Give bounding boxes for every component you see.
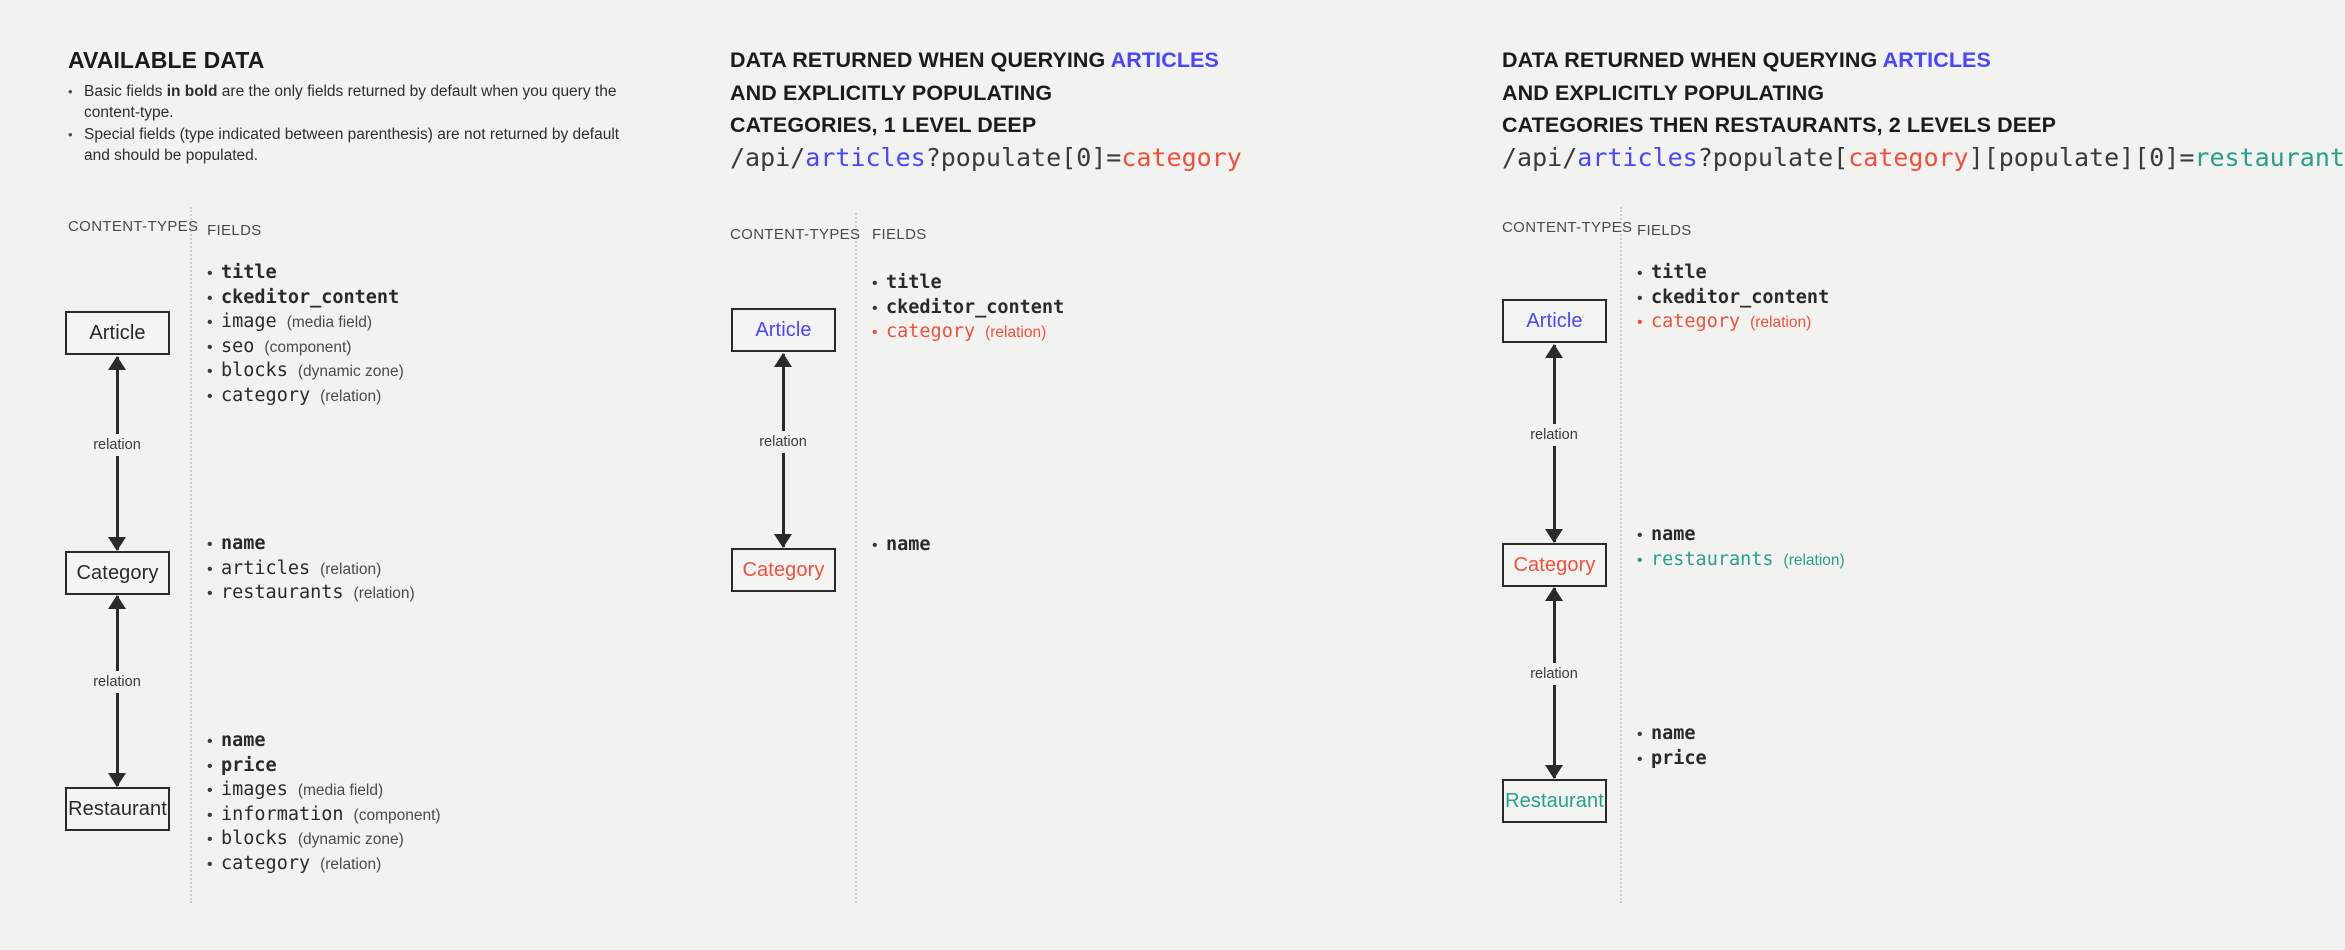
- api-url-2-levels: /api/articles?populate[category][populat…: [1502, 143, 2345, 173]
- column-3-heading-accent: ARTICLES: [1883, 48, 1991, 72]
- entity-box-category[interactable]: Category: [731, 548, 836, 592]
- intro-line-1: Special fields (type indicated between p…: [84, 126, 619, 143]
- field-name: restaurants: [221, 582, 344, 603]
- field-type: (relation): [1750, 314, 1811, 332]
- field-row: •restaurants(relation): [1637, 549, 1845, 570]
- bullet-dot-icon: •: [872, 538, 886, 554]
- bullet-dot-icon: •: [207, 340, 221, 356]
- url-token-restaurants: restaurants: [2194, 143, 2345, 172]
- column-2-heading-accent: ARTICLES: [1111, 48, 1219, 72]
- relation-connector-category-restaurant: relation: [102, 596, 132, 786]
- bullet-dot-icon: •: [207, 832, 221, 848]
- column-1-heading-text: AVAILABLE DATA: [68, 47, 264, 73]
- col3-section-divider: [1620, 207, 1622, 903]
- intro-line-2: and should be populated.: [84, 147, 258, 164]
- relation-label: relation: [754, 431, 812, 453]
- field-name: articles: [221, 558, 310, 579]
- field-row: •name: [207, 533, 415, 554]
- field-row: •images(media field): [207, 779, 441, 800]
- entity-box-article[interactable]: Article: [731, 308, 836, 352]
- field-name: category: [1651, 311, 1740, 332]
- field-name: price: [221, 755, 277, 776]
- field-type: (media field): [287, 314, 372, 332]
- entity-label: Article: [755, 319, 811, 342]
- arrow-up-icon: [1545, 587, 1563, 601]
- intro-bullet-list: • Basic fields in bold are the only fiel…: [68, 82, 668, 168]
- field-name: title: [886, 272, 942, 293]
- bullet-dot-icon: •: [207, 291, 221, 307]
- entity-label: Category: [77, 562, 159, 585]
- column-1-heading: AVAILABLE DATA: [68, 44, 264, 77]
- column-2-heading-line-3: CATEGORIES, 1 LEVEL DEEP: [730, 113, 1036, 137]
- field-group-category: •name •restaurants(relation): [1637, 524, 1845, 573]
- arrow-up-icon: [774, 353, 792, 367]
- field-row: •blocks(dynamic zone): [207, 360, 404, 381]
- bullet-dot-icon: •: [207, 759, 221, 775]
- col1-section-divider: [190, 207, 192, 903]
- field-row: •ckeditor_content: [207, 287, 404, 308]
- field-row: •name: [1637, 524, 1845, 545]
- arrow-down-icon: [1545, 529, 1563, 543]
- bullet-dot-icon: •: [1637, 266, 1651, 282]
- bullet-dot-icon: •: [1637, 553, 1651, 569]
- bullet-dot-icon: •: [207, 364, 221, 380]
- relation-connector-article-category: relation: [1539, 345, 1569, 542]
- relation-label: relation: [88, 671, 146, 693]
- field-group-article: •title •ckeditor_content •category(relat…: [872, 272, 1064, 346]
- relation-connector-article-category: relation: [768, 354, 798, 547]
- field-name: name: [221, 730, 266, 751]
- field-type: (component): [264, 339, 351, 357]
- field-row: •name: [872, 534, 931, 555]
- column-3-heading-line-1-pre: DATA RETURNED WHEN QUERYING: [1502, 48, 1883, 72]
- field-group-category: •name •articles(relation) •restaurants(r…: [207, 533, 415, 607]
- bullet-dot-icon: •: [207, 808, 221, 824]
- field-group-restaurant: •name •price •images(media field) •infor…: [207, 730, 441, 877]
- url-token-articles: articles: [1577, 143, 1697, 172]
- bullet-dot-icon: •: [207, 537, 221, 553]
- field-group-article: •title •ckeditor_content •image(media fi…: [207, 262, 404, 409]
- col2-label-content-types: CONTENT-TYPES: [730, 226, 860, 243]
- field-row: •title: [872, 272, 1064, 293]
- column-populate-2-levels: DATA RETURNED WHEN QUERYING ARTICLES AND…: [1480, 0, 2345, 950]
- bullet-dot-icon: •: [207, 389, 221, 405]
- column-2-heading-line-2: AND EXPLICITLY POPULATING: [730, 81, 1052, 105]
- bullet-dot-icon: •: [872, 325, 886, 341]
- entity-box-article[interactable]: Article: [1502, 299, 1607, 343]
- url-token: /api/: [1502, 143, 1577, 172]
- entity-label: Article: [89, 322, 145, 345]
- api-url-1-level: /api/articles?populate[0]=category: [730, 143, 1242, 173]
- field-row: •name: [1637, 723, 1707, 744]
- relation-connector-category-restaurant: relation: [1539, 588, 1569, 778]
- field-row: •title: [207, 262, 404, 283]
- column-2-heading: DATA RETURNED WHEN QUERYING ARTICLES AND…: [730, 44, 1219, 142]
- field-row: •blocks(dynamic zone): [207, 828, 441, 849]
- field-name: ckeditor_content: [221, 287, 399, 308]
- arrow-down-icon: [774, 534, 792, 548]
- field-row: •ckeditor_content: [1637, 287, 1829, 308]
- field-name: information: [221, 804, 344, 825]
- intro-bullet-text: Basic fields in bold are the only fields…: [84, 82, 668, 123]
- bullet-dot-icon: •: [207, 783, 221, 799]
- diagram-canvas: AVAILABLE DATA • Basic fields in bold ar…: [0, 0, 2345, 950]
- entity-box-category[interactable]: Category: [1502, 543, 1607, 587]
- field-name: name: [221, 533, 266, 554]
- field-name: title: [1651, 262, 1707, 283]
- arrow-up-icon: [108, 595, 126, 609]
- field-name: blocks: [221, 360, 288, 381]
- field-type: (dynamic zone): [298, 831, 404, 849]
- col3-label-fields: FIELDS: [1637, 222, 1692, 239]
- field-group-article: •title •ckeditor_content •category(relat…: [1637, 262, 1829, 336]
- field-name: restaurants: [1651, 549, 1774, 570]
- column-3-heading-line-3: CATEGORIES THEN RESTAURANTS, 2 LEVELS DE…: [1502, 113, 2056, 137]
- bullet-dot-icon: •: [207, 562, 221, 578]
- field-name: category: [886, 321, 975, 342]
- field-row: •category(relation): [207, 853, 441, 874]
- col1-label-content-types: CONTENT-TYPES: [68, 218, 198, 235]
- field-name: category: [221, 385, 310, 406]
- field-group-category: •name: [872, 534, 931, 559]
- field-type: (relation): [354, 585, 415, 603]
- field-type: (relation): [985, 324, 1046, 342]
- url-token-category: category: [1121, 143, 1241, 172]
- bullet-dot-icon: •: [207, 315, 221, 331]
- column-3-heading: DATA RETURNED WHEN QUERYING ARTICLES AND…: [1502, 44, 2056, 142]
- field-name: ckeditor_content: [1651, 287, 1829, 308]
- field-type: (component): [354, 807, 441, 825]
- entity-box-category[interactable]: Category: [65, 551, 170, 595]
- entity-label: Article: [1526, 310, 1582, 333]
- url-token-articles: articles: [805, 143, 925, 172]
- field-type: (dynamic zone): [298, 363, 404, 381]
- intro-bullet-item: • Special fields (type indicated between…: [68, 125, 668, 166]
- bullet-dot-icon: •: [68, 84, 84, 99]
- field-name: name: [1651, 723, 1696, 744]
- arrow-up-icon: [1545, 344, 1563, 358]
- bullet-dot-icon: •: [1637, 291, 1651, 307]
- field-name: blocks: [221, 828, 288, 849]
- bullet-dot-icon: •: [1637, 315, 1651, 331]
- url-token: ][populate][0]=: [1969, 143, 2195, 172]
- field-row: •ckeditor_content: [872, 297, 1064, 318]
- column-available-data: AVAILABLE DATA • Basic fields in bold ar…: [0, 0, 720, 950]
- bullet-dot-icon: •: [207, 586, 221, 602]
- arrow-down-icon: [1545, 765, 1563, 779]
- field-name: seo: [221, 336, 254, 357]
- relation-label: relation: [1525, 424, 1583, 446]
- entity-box-restaurant[interactable]: Restaurant: [1502, 779, 1607, 823]
- col3-label-content-types: CONTENT-TYPES: [1502, 219, 1632, 236]
- field-name: name: [886, 534, 931, 555]
- bullet-dot-icon: •: [872, 276, 886, 292]
- field-type: (relation): [1784, 552, 1845, 570]
- entity-label: Category: [743, 559, 825, 582]
- field-type: (media field): [298, 782, 383, 800]
- field-row: •category(relation): [207, 385, 404, 406]
- bullet-dot-icon: •: [1637, 528, 1651, 544]
- field-group-restaurant: •name •price: [1637, 723, 1707, 772]
- bullet-dot-icon: •: [68, 127, 84, 142]
- field-row: •image(media field): [207, 311, 404, 332]
- intro-bullet-item: • Basic fields in bold are the only fiel…: [68, 82, 668, 123]
- col2-section-divider: [855, 213, 857, 903]
- field-name: ckeditor_content: [886, 297, 1064, 318]
- field-row: •name: [207, 730, 441, 751]
- url-token: /api/: [730, 143, 805, 172]
- relation-label: relation: [1525, 663, 1583, 685]
- entity-box-article[interactable]: Article: [65, 311, 170, 355]
- field-name: price: [1651, 748, 1707, 769]
- entity-label: Restaurant: [68, 798, 167, 821]
- field-row: •title: [1637, 262, 1829, 283]
- relation-connector-article-category: relation: [102, 357, 132, 550]
- field-row: •articles(relation): [207, 558, 415, 579]
- field-row: •price: [1637, 748, 1707, 769]
- col1-label-fields: FIELDS: [207, 222, 262, 239]
- field-type: (relation): [320, 561, 381, 579]
- column-3-heading-line-2: AND EXPLICITLY POPULATING: [1502, 81, 1824, 105]
- field-name: image: [221, 311, 277, 332]
- field-name: title: [221, 262, 277, 283]
- bullet-dot-icon: •: [207, 266, 221, 282]
- url-token: ?populate[0]=: [926, 143, 1122, 172]
- arrow-up-icon: [108, 356, 126, 370]
- relation-label: relation: [88, 434, 146, 456]
- entity-label: Category: [1514, 554, 1596, 577]
- col2-label-fields: FIELDS: [872, 226, 927, 243]
- bullet-dot-icon: •: [1637, 752, 1651, 768]
- column-2-heading-line-1-pre: DATA RETURNED WHEN QUERYING: [730, 48, 1111, 72]
- entity-label: Restaurant: [1505, 790, 1604, 813]
- field-row: •seo(component): [207, 336, 404, 357]
- column-populate-1-level: DATA RETURNED WHEN QUERYING ARTICLES AND…: [720, 0, 1480, 950]
- field-name: category: [221, 853, 310, 874]
- arrow-down-icon: [108, 537, 126, 551]
- url-token-category: category: [1848, 143, 1968, 172]
- intro-bullet-text: Special fields (type indicated between p…: [84, 125, 619, 166]
- field-row: •information(component): [207, 804, 441, 825]
- arrow-down-icon: [108, 773, 126, 787]
- field-row: •price: [207, 755, 441, 776]
- field-name: name: [1651, 524, 1696, 545]
- bullet-dot-icon: •: [1637, 727, 1651, 743]
- field-name: images: [221, 779, 288, 800]
- bullet-dot-icon: •: [872, 301, 886, 317]
- entity-box-restaurant[interactable]: Restaurant: [65, 787, 170, 831]
- field-row: •category(relation): [1637, 311, 1829, 332]
- bullet-dot-icon: •: [207, 857, 221, 873]
- bullet-dot-icon: •: [207, 734, 221, 750]
- field-type: (relation): [320, 856, 381, 874]
- field-row: •restaurants(relation): [207, 582, 415, 603]
- field-type: (relation): [320, 388, 381, 406]
- field-row: •category(relation): [872, 321, 1064, 342]
- url-token: ?populate[: [1698, 143, 1849, 172]
